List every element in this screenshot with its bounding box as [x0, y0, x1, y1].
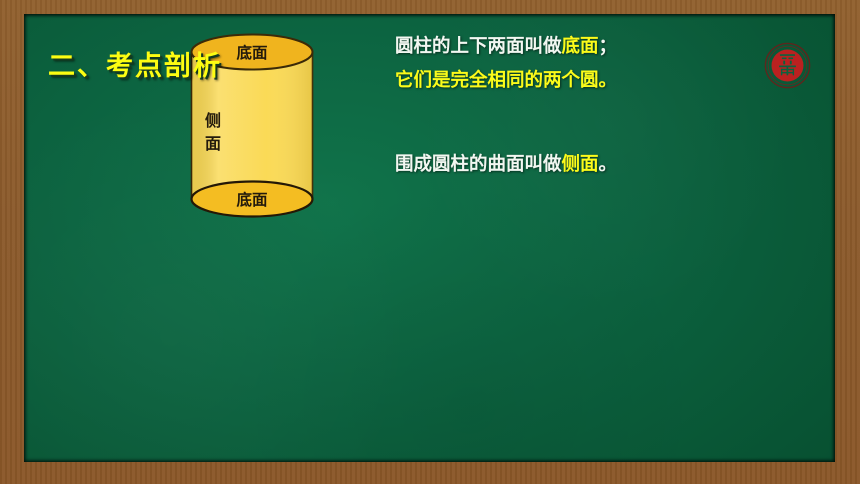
- top-base-label: 底面: [236, 43, 267, 62]
- line3-keyword-cemian: 侧面: [562, 153, 599, 174]
- explanation-line-3: 围成圆柱的曲面叫做侧面。: [395, 147, 815, 181]
- slide-root: 二、考点剖析: [0, 0, 860, 484]
- red-seal-stamp-icon: [764, 42, 811, 89]
- line3-tail-punct: 。: [599, 153, 618, 174]
- bottom-base-label: 底面: [236, 190, 267, 209]
- side-label-line2: 面: [205, 135, 221, 153]
- line1-plain-text: 圆柱的上下两面叫做: [395, 35, 562, 56]
- chalkboard-surface: 二、考点剖析: [24, 14, 835, 462]
- explanation-line-1: 圆柱的上下两面叫做底面；: [395, 29, 815, 63]
- explanation-line-2: 它们是完全相同的两个圆。: [395, 63, 815, 97]
- explanation-text-block: 圆柱的上下两面叫做底面； 它们是完全相同的两个圆。 围成圆柱的曲面叫做侧面。: [395, 29, 815, 181]
- line1-keyword-dimian: 底面: [562, 35, 599, 56]
- side-label-line1: 侧: [205, 111, 221, 130]
- page-title: 二、考点剖析: [48, 44, 222, 83]
- line3-plain-text: 围成圆柱的曲面叫做: [395, 153, 562, 174]
- line1-tail-punct: ；: [599, 35, 618, 56]
